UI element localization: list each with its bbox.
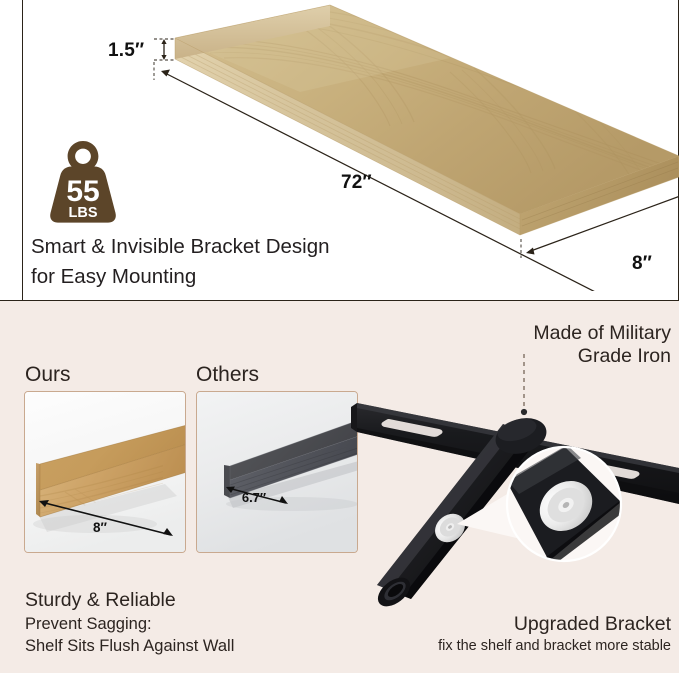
- dimension-thickness: [154, 39, 174, 60]
- weight-badge-unit: LBS: [69, 205, 98, 221]
- comparison-photo-ours: 8″: [24, 391, 186, 553]
- upgraded-bracket-subtitle: fix the shelf and bracket more stable: [341, 637, 671, 656]
- sturdy-subline-1: Prevent Sagging:: [25, 614, 345, 636]
- bracket-illustration: [349, 352, 679, 614]
- dimension-label-length: 72″: [341, 172, 372, 194]
- weight-capacity-badge: 55 LBS: [44, 139, 122, 225]
- ours-shelf-photo: 8″: [25, 392, 186, 553]
- dimension-label-thickness: 1.5″: [108, 40, 144, 62]
- top-headline: Smart & Invisible Bracket Design for Eas…: [31, 232, 451, 291]
- comparison-title-ours: Ours: [25, 363, 71, 387]
- sturdy-heading: Sturdy & Reliable: [25, 588, 345, 612]
- military-callout-line1: Made of Military: [411, 322, 671, 345]
- ours-dimension-label: 8″: [93, 520, 108, 535]
- sturdy-text-block: Sturdy & Reliable Prevent Sagging: Shelf…: [25, 588, 345, 658]
- callout-leader-line: [521, 354, 527, 415]
- top-feature-panel: 1.5″ 72″ 8″ 55 LBS Smart & Invisible Bra…: [0, 0, 679, 301]
- dimension-label-depth: 8″: [632, 253, 652, 275]
- bracket-svg: [349, 352, 679, 616]
- comparison-title-others: Others: [196, 363, 259, 387]
- sturdy-subline-2: Shelf Sits Flush Against Wall: [25, 636, 345, 658]
- weight-badge-svg: 55 LBS: [44, 139, 122, 225]
- top-headline-line1: Smart & Invisible Bracket Design: [31, 235, 330, 258]
- top-headline-line2: for Easy Mounting: [31, 262, 451, 292]
- upgraded-bracket-title: Upgraded Bracket: [341, 613, 671, 637]
- others-dimension-label: 6.7″: [242, 490, 266, 505]
- weight-badge-value: 55: [66, 175, 99, 208]
- comparison-photo-others: 6.7″: [196, 391, 358, 553]
- others-shelf-photo: 6.7″: [197, 392, 358, 553]
- upgraded-bracket-caption: Upgraded Bracket fix the shelf and brack…: [341, 613, 671, 656]
